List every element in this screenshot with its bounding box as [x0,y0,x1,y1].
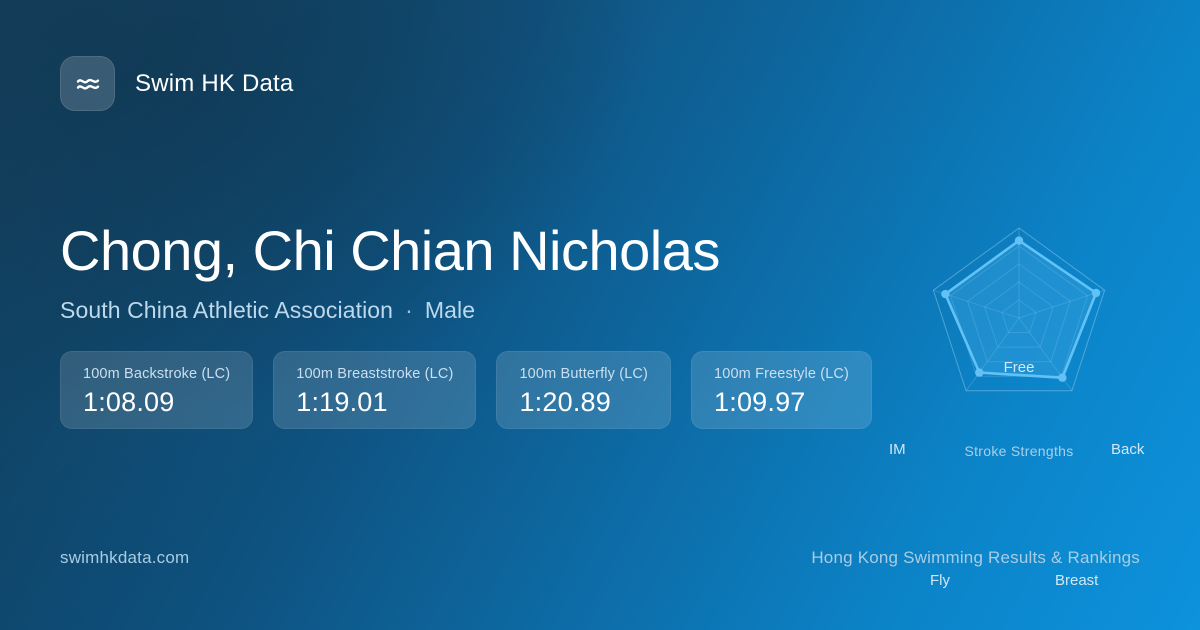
footer-tagline: Hong Kong Swimming Results & Rankings [811,548,1140,568]
event-card[interactable]: 100m Breaststroke (LC) 1:19.01 [273,351,476,429]
radar-axis-label-fly: Fly [930,572,950,589]
radar-axis-label-free: Free [869,359,1169,376]
radar-chart: Free Back Breast Fly IM [869,170,1169,470]
brand-name: Swim HK Data [135,70,293,98]
event-label: 100m Freestyle (LC) [714,366,849,382]
radar-axis-label-breast: Breast [1055,572,1098,589]
event-card[interactable]: 100m Freestyle (LC) 1:09.97 [691,351,872,429]
athlete-gender: Male [425,297,475,324]
brand-header[interactable]: Swim HK Data [60,56,293,111]
hero: Chong, Chi Chian Nicholas South China At… [60,222,720,324]
event-time: 1:19.01 [296,387,453,418]
event-card[interactable]: 100m Backstroke (LC) 1:08.09 [60,351,253,429]
athlete-club: South China Athletic Association [60,297,393,324]
radar-svg [869,170,1169,470]
radar-chart-caption: Stroke Strengths [869,443,1169,459]
event-label: 100m Butterfly (LC) [519,366,648,382]
event-label: 100m Breaststroke (LC) [296,366,453,382]
athlete-meta: South China Athletic Association · Male [60,297,720,324]
event-label: 100m Backstroke (LC) [83,366,230,382]
event-cards: 100m Backstroke (LC) 1:08.09 100m Breast… [60,351,872,429]
event-time: 1:08.09 [83,387,230,418]
event-card[interactable]: 100m Butterfly (LC) 1:20.89 [496,351,671,429]
meta-separator: · [405,297,413,324]
event-time: 1:20.89 [519,387,648,418]
page-title: Chong, Chi Chian Nicholas [60,222,720,281]
event-time: 1:09.97 [714,387,849,418]
share-card: Swim HK Data Chong, Chi Chian Nicholas S… [0,0,1200,630]
radar-series-area [945,241,1096,378]
wave-icon [60,56,115,111]
footer-site[interactable]: swimhkdata.com [60,548,189,568]
